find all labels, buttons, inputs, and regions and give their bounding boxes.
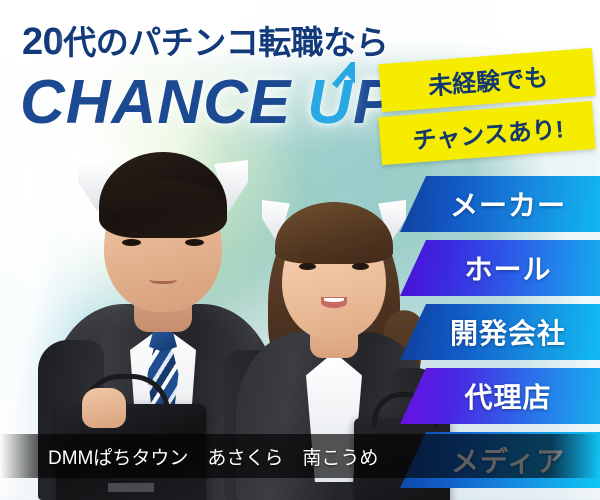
badge-chance: チャンスあり! — [378, 101, 595, 165]
headline-number: 20 — [22, 21, 63, 63]
headline: 20代のパチンコ転職なら — [22, 16, 388, 64]
category-label-hall: ホール — [448, 248, 551, 288]
category-label-agency: 代理店 — [448, 376, 551, 416]
category-label-developer: 開発会社 — [434, 312, 566, 352]
wordmark-u: U — [307, 72, 353, 134]
headline-text: 代のパチンコ転職なら — [63, 24, 388, 61]
wordmark-chance-up: CHANCE U P — [20, 72, 395, 134]
category-button-developer[interactable]: 開発会社 — [400, 304, 600, 360]
caption-text: DMMぱちタウン あさくら 南こうめ — [0, 443, 378, 470]
wordmark-chance: CHANCE — [20, 72, 291, 134]
male-hair — [99, 152, 227, 238]
category-label-maker: メーカー — [434, 184, 566, 224]
category-button-hall[interactable]: ホール — [400, 240, 600, 296]
category-button-maker[interactable]: メーカー — [400, 176, 600, 232]
highlight-badges: 未経験でも チャンスあり! — [380, 56, 594, 157]
promo-banner: 20代のパチンコ転職なら CHANCE U P 未経験でも チャンスあり! メー… — [0, 0, 600, 500]
caption-bar: DMMぱちタウン あさくら 南こうめ — [0, 434, 600, 478]
wordmark-u-letter: U — [307, 68, 353, 137]
category-button-agency[interactable]: 代理店 — [400, 368, 600, 424]
